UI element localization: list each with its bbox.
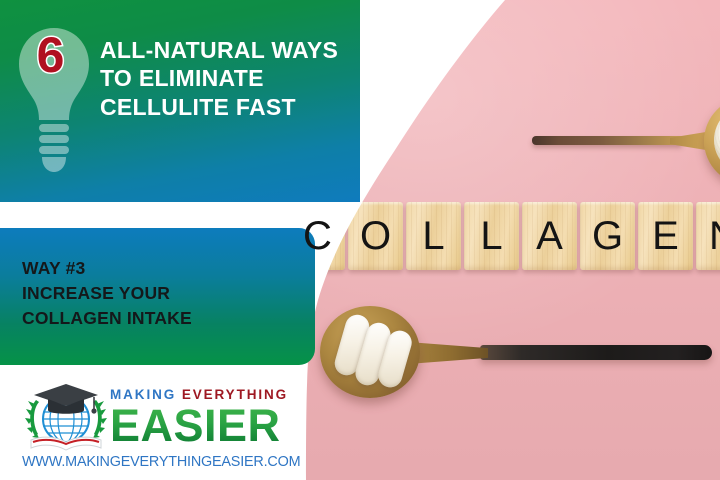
collagen-photo: C O L L A G E N <box>300 0 720 480</box>
title-line-2: TO ELIMINATE <box>100 64 350 92</box>
globe-graduation-cap-book-icon <box>23 382 109 454</box>
tile-letter: O <box>360 216 391 256</box>
gold-spoon-with-collagen-powder <box>532 96 720 196</box>
gold-spoon-with-capsules <box>320 300 720 410</box>
website-url[interactable]: WWW.MAKINGEVERYTHINGEASIER.COM <box>22 454 322 470</box>
letter-tile: O <box>348 202 403 270</box>
title-line-1: ALL-NATURAL WAYS <box>100 36 350 64</box>
tile-letter: N <box>709 216 720 256</box>
spoon-handle <box>480 345 712 360</box>
wooden-letter-tiles: C O L L A G E N <box>300 202 720 270</box>
letter-tile: E <box>638 202 693 270</box>
title-line-3: CELLULITE FAST <box>100 93 350 121</box>
step-number: 6 <box>22 30 78 80</box>
letter-tile: A <box>522 202 577 270</box>
letter-tile: L <box>464 202 519 270</box>
header-panel: 6 ALL-NATURAL WAYS TO ELIMINATE CELLULIT… <box>0 0 360 202</box>
way-line-1: WAY #3 <box>22 256 302 281</box>
way-line-2: INCREASE YOUR <box>22 281 302 306</box>
brand-logo[interactable]: MAKING EVERYTHING EASIER WWW.MAKINGEVERY… <box>18 382 318 472</box>
tile-letter: A <box>536 216 563 256</box>
tile-letter: E <box>652 216 679 256</box>
letter-tile: N <box>696 202 720 270</box>
way-callout-text: WAY #3 INCREASE YOUR COLLAGEN INTAKE <box>22 256 302 331</box>
spoon-neck <box>408 342 488 364</box>
way-line-3: COLLAGEN INTAKE <box>22 306 302 331</box>
tile-letter: L <box>422 216 444 256</box>
page-title: ALL-NATURAL WAYS TO ELIMINATE CELLULITE … <box>100 36 350 121</box>
tile-letter: G <box>592 216 623 256</box>
letter-tile: G <box>580 202 635 270</box>
logo-word-easier: EASIER <box>110 403 320 449</box>
tile-letter: C <box>303 216 332 256</box>
tile-letter: L <box>480 216 502 256</box>
letter-tile: L <box>406 202 461 270</box>
way-callout-box: WAY #3 INCREASE YOUR COLLAGEN INTAKE <box>0 228 315 365</box>
infographic-canvas: C O L L A G E N 6 <box>0 0 720 480</box>
spoon-handle <box>532 136 682 145</box>
logo-wordmark: MAKING EVERYTHING EASIER <box>110 388 320 448</box>
